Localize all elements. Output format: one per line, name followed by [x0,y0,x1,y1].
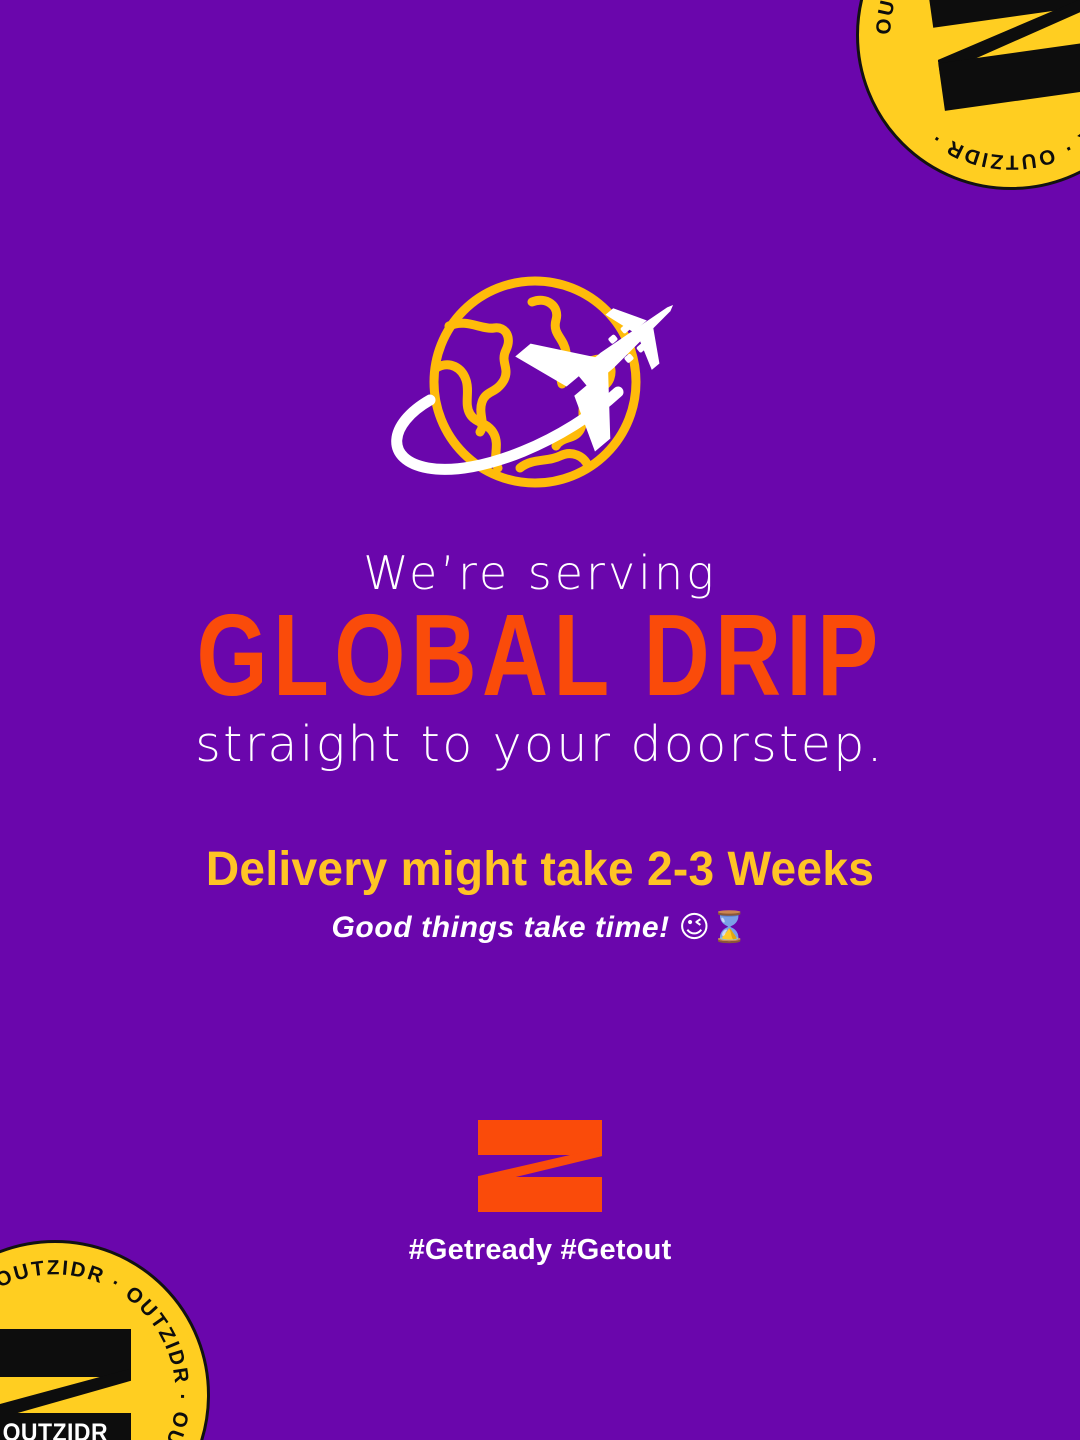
hashtags: #Getready #Getout [409,1234,672,1267]
globe-airplane-icon [370,272,710,502]
badge-wordmark: OUTZIDR [0,1414,128,1440]
headline: GLOBAL DRIP [65,603,1015,710]
z-logo-icon [927,0,1080,111]
z-logo-top-bar [0,1329,131,1377]
delivery-notice: Delivery might take 2-3 Weeks [22,844,1059,897]
wink-hourglass-emoji: 😉⌛ [679,910,749,945]
globe-continents-icon [436,300,611,468]
z-logo-icon [478,1120,602,1212]
brand-badge-top-right: OUTZIDR · OUTZIDR · OUTZIDR · OUTZIDR · … [856,0,1080,190]
hero-illustration [0,272,1080,502]
badge-wordmark-label: OUTZIDR [2,1419,107,1440]
poster-copy-block: We’re serving GLOBAL DRIP straight to yo… [0,548,1080,944]
z-logo-top-bar [478,1120,602,1155]
tagline-line-2: straight to your doorstep. [0,718,1080,772]
badge-core-bottom-left: OUTZIDR [0,1320,140,1440]
poster-canvas: OUTZIDR · OUTZIDR · OUTZIDR · OUTZIDR · … [0,0,1080,1440]
z-logo-icon: OUTZIDR [0,1329,131,1440]
delivery-subnote: Good things take time! 😉⌛ [0,911,1080,944]
z-logo-bottom-bar [478,1177,602,1212]
delivery-subnote-text: Good things take time! [332,911,670,944]
badge-core-top-right [916,0,1080,121]
brand-badge-bottom-left: OUTZIDR · OUTZIDR · OUTZIDR · OUTZIDR · … [0,1240,210,1440]
